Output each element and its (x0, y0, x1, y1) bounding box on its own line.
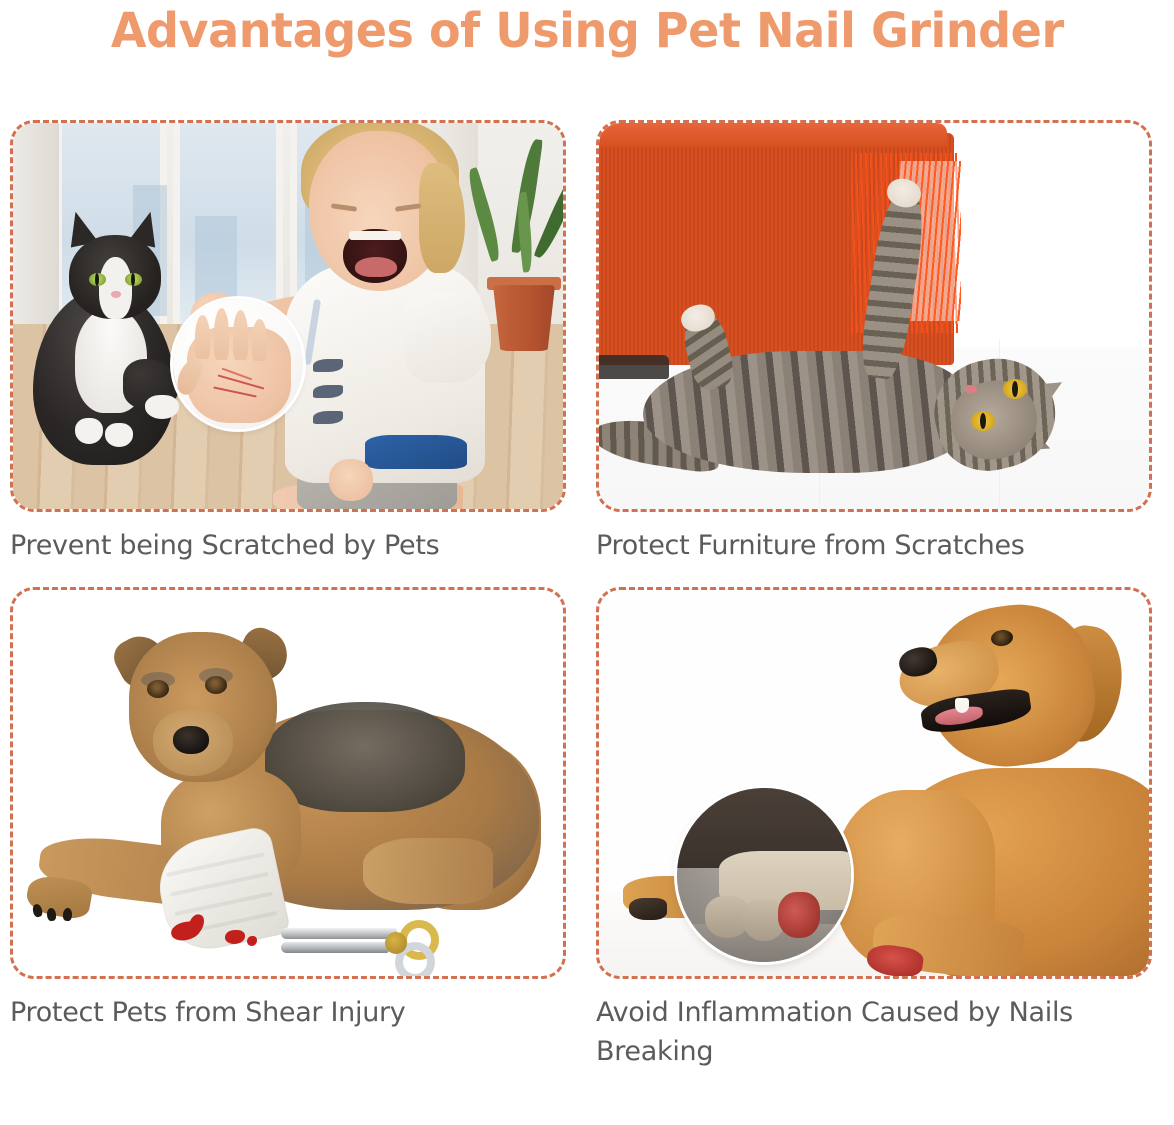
caption-prevent-scratched: Prevent being Scratched by Pets (10, 526, 566, 565)
bandage-wrap-3 (174, 891, 273, 916)
bandage-wrap-1 (166, 853, 265, 878)
caption-avoid-inflammation: Avoid Inflammation Caused by Nails Break… (596, 993, 1126, 1071)
benefit-card-protect-shear-injury: Protect Pets from Shear Injury (10, 587, 566, 1032)
inset-finger-1 (195, 315, 210, 359)
photo-frame-prevent-scratched (10, 120, 566, 512)
grooming-scissors (281, 914, 441, 972)
bandage-wrap-2 (170, 872, 269, 897)
infographic-page: Advantages of Using Pet Nail Grinder (0, 0, 1174, 1125)
zoom-inset-inflamed-paw (677, 788, 851, 962)
cat-nose (111, 291, 121, 298)
dog-eye-left (147, 680, 169, 698)
benefit-card-prevent-scratched: Prevent being Scratched by Pets (10, 120, 566, 565)
sofa-base-shadow (599, 355, 669, 379)
dog-hind-leg (363, 838, 493, 904)
zoom-inset-scratched-hand (173, 299, 303, 429)
tabby-pupil-1 (980, 413, 986, 429)
child-blue-waistband (365, 435, 467, 469)
caption-protect-furniture: Protect Furniture from Scratches (596, 526, 1152, 565)
photo-golden-retriever-inflamed-paw (599, 590, 1149, 976)
photo-cat-clawing-sofa (599, 123, 1149, 509)
child-sleeve (405, 291, 491, 383)
page-title: Advantages of Using Pet Nail Grinder (111, 6, 1064, 58)
benefits-grid: Prevent being Scratched by Pets (10, 120, 1152, 1110)
inset-finger-4 (252, 319, 267, 361)
cat-face-blaze (99, 257, 132, 319)
scissors-blade-lower (281, 942, 389, 953)
dog-claw-3 (63, 908, 73, 922)
child-hand-2 (329, 459, 373, 501)
photo-dog-bandaged-paw (13, 590, 563, 976)
inset-finger-2 (214, 308, 229, 360)
child-tongue (355, 257, 397, 277)
page-title-bar: Advantages of Using Pet Nail Grinder (0, 0, 1174, 112)
sofa-top-cushion (599, 123, 947, 147)
benefit-card-protect-furniture: Protect Furniture from Scratches (596, 120, 1152, 565)
shirt-fish-print-3 (313, 411, 343, 424)
photo-frame-avoid-inflammation (596, 587, 1152, 979)
retriever-tooth (955, 698, 969, 713)
dog-eye-right (205, 676, 227, 694)
shirt-fish-print-1 (313, 359, 343, 372)
flower-pot (493, 285, 555, 351)
photo-frame-protect-furniture (596, 120, 1152, 512)
tabby-nose (965, 385, 977, 394)
cat-paw-3 (145, 395, 179, 419)
photo-frame-shear-injury (10, 587, 566, 979)
benefit-card-avoid-inflammation: Avoid Inflammation Caused by Nails Break… (596, 587, 1152, 1032)
child-teeth (349, 231, 401, 240)
tabby-pupil-2 (1012, 381, 1018, 397)
inset-finger-3 (233, 310, 248, 360)
scissors-pivot-screw (385, 932, 407, 954)
shirt-fish-print-2 (313, 385, 343, 398)
cat-pupil-right (131, 273, 135, 286)
caption-protect-shear-injury: Protect Pets from Shear Injury (10, 993, 566, 1032)
blood-drop-2 (247, 936, 257, 946)
photo-cat-scratching-child (13, 123, 563, 509)
cat-paw-1 (75, 418, 103, 444)
cat-pupil-left (95, 273, 99, 286)
scissors-blade-upper (281, 928, 397, 939)
retriever-hind-claw (629, 898, 667, 920)
cat-paw-2 (105, 423, 133, 447)
inset-inflamed-nail-bed (778, 892, 820, 937)
dog-nose (173, 726, 209, 754)
